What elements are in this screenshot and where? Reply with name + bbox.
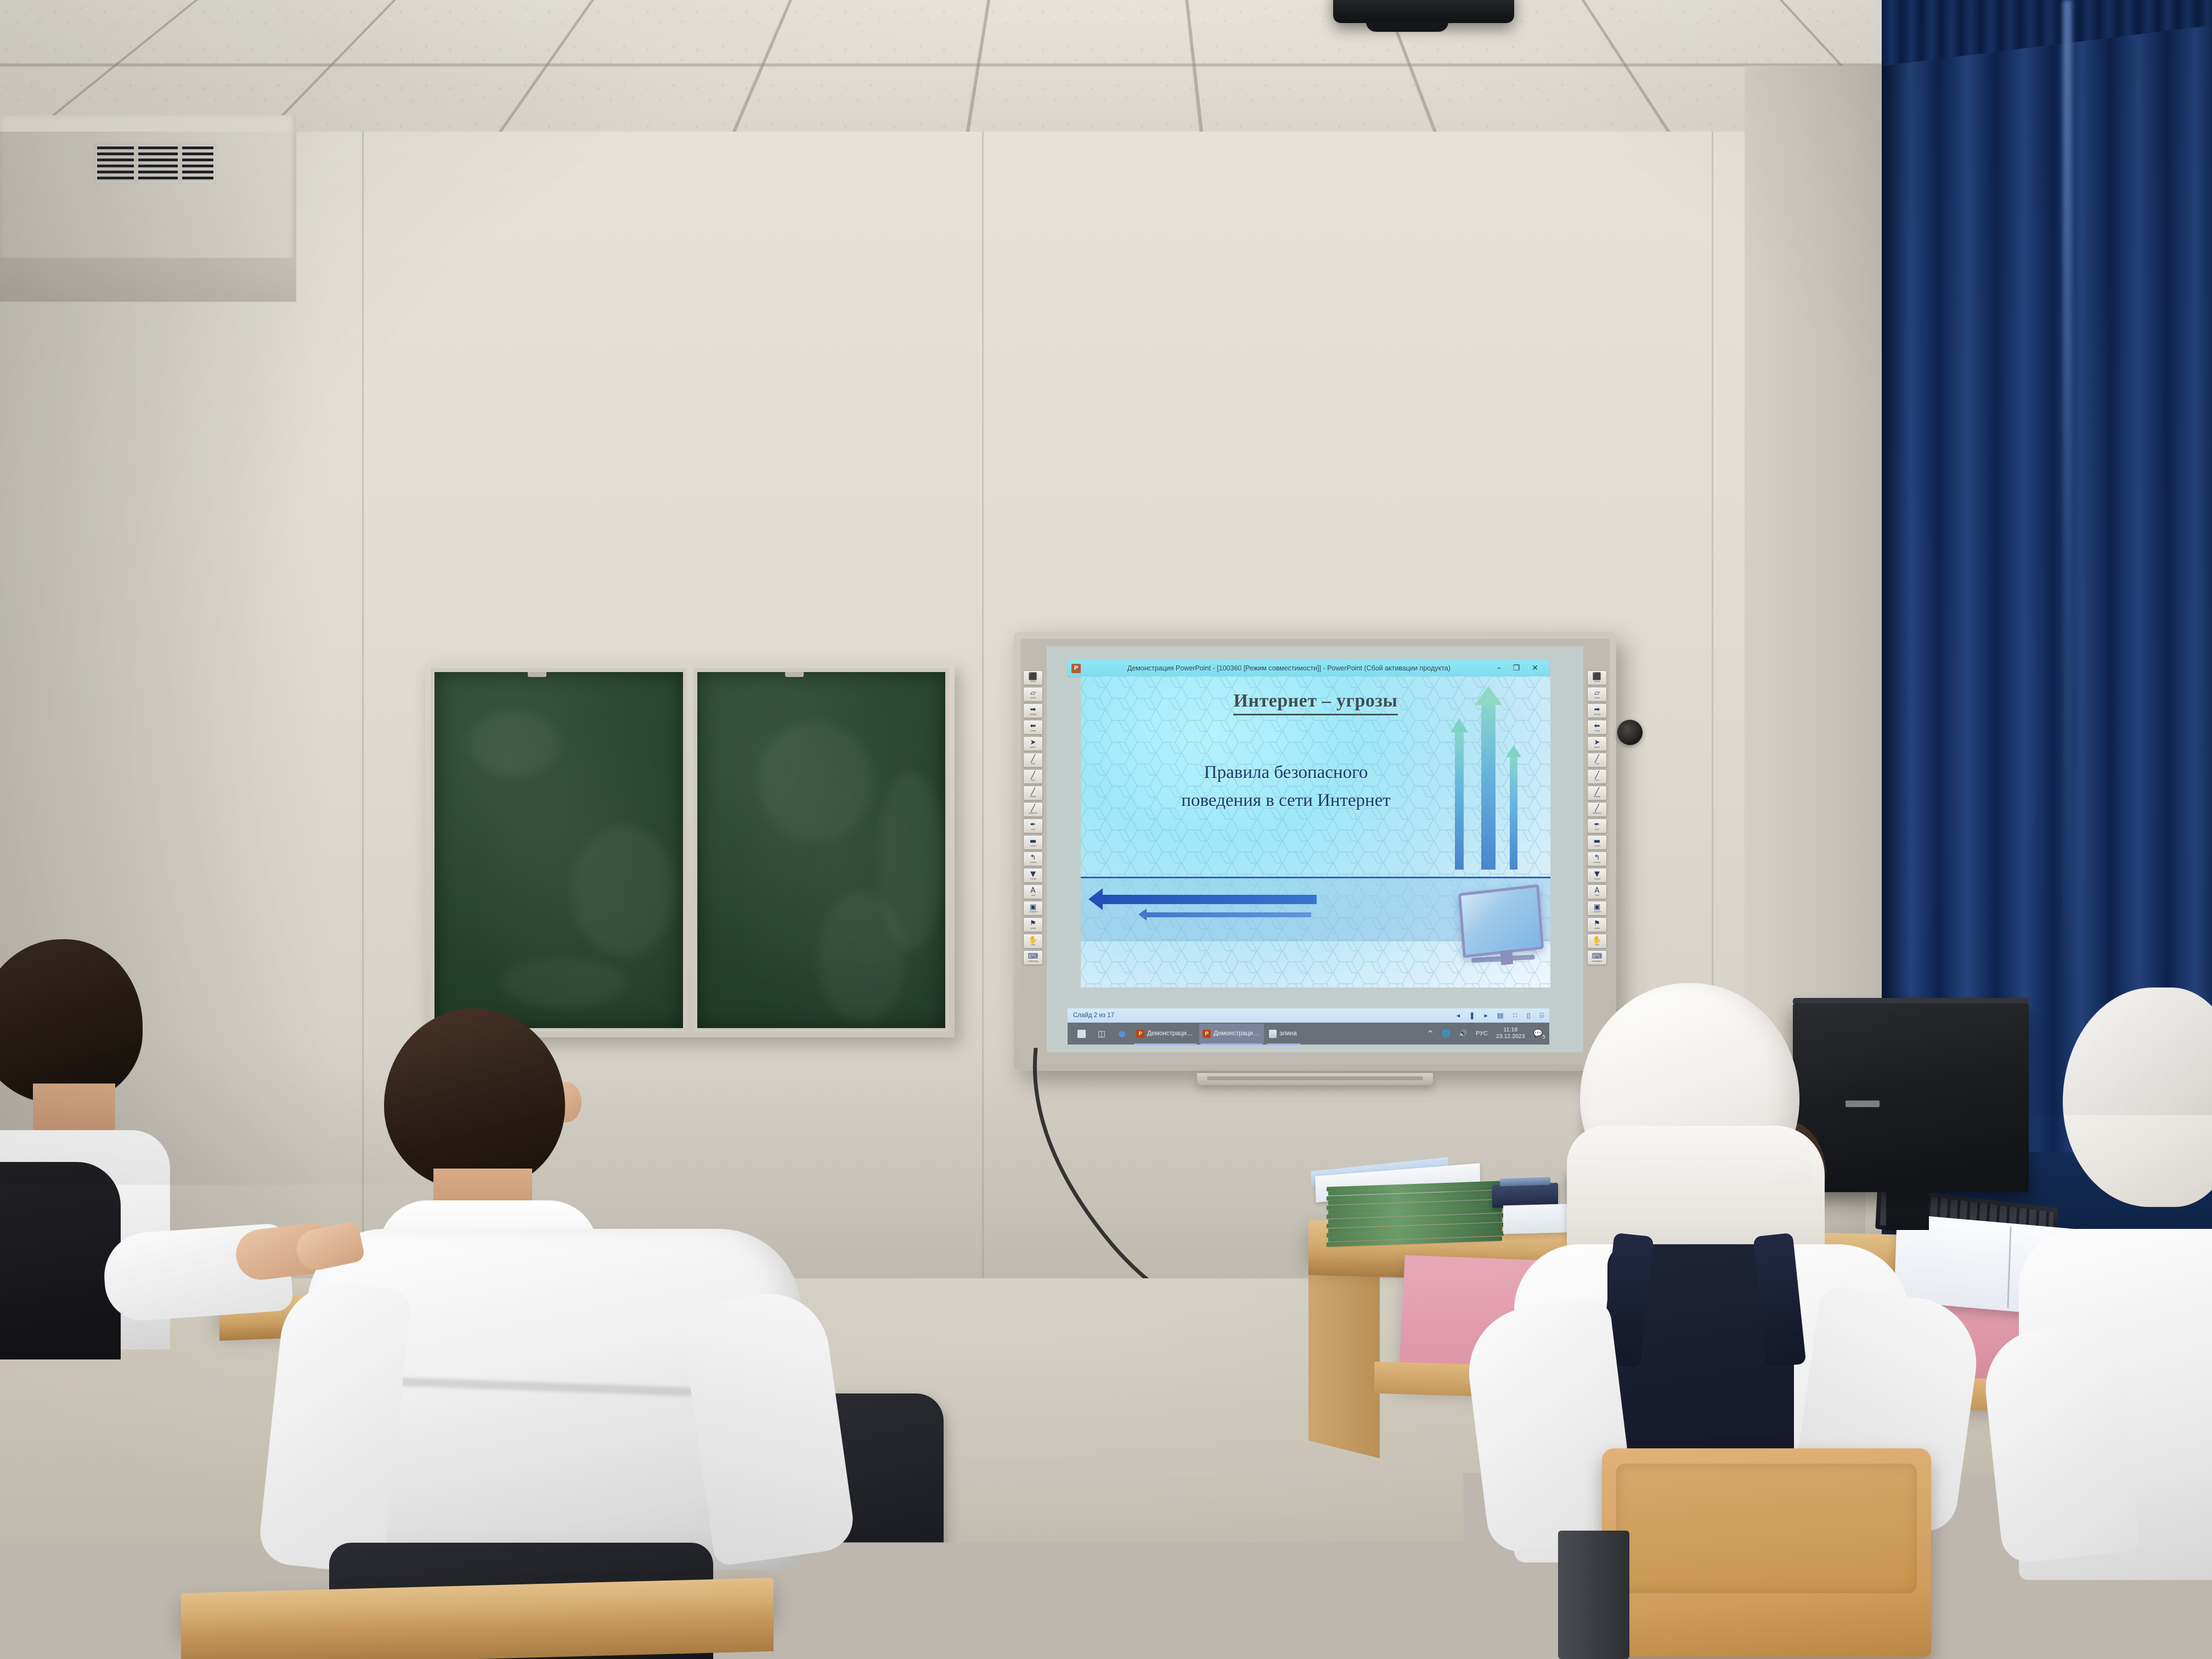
hand-icon[interactable]: ✋Рука xyxy=(1587,934,1607,949)
tool-caption: Отмена xyxy=(1594,862,1600,864)
text-tool-icon[interactable]: AТекст xyxy=(1587,884,1607,899)
next-slide-icon[interactable]: ▸ xyxy=(1485,1012,1488,1019)
arrow-right-blue-icon-glyph: ➤ xyxy=(1594,739,1600,746)
reading-view-icon[interactable]: ▯ xyxy=(1527,1012,1531,1019)
tool-caption: Далее xyxy=(1030,747,1036,749)
clock[interactable]: 11:18 23.12.2023 xyxy=(1496,1027,1525,1040)
shape-icon[interactable]: ▼Фигура xyxy=(1023,868,1043,883)
previous-slide-icon[interactable]: ◂ xyxy=(1457,1012,1460,1019)
slide-body-line-2: поведения в сети Интернет xyxy=(1115,787,1457,815)
monitor-label xyxy=(1846,1101,1880,1107)
tool-caption: Выбор xyxy=(1594,681,1600,683)
tool-caption: Перо xyxy=(1031,763,1035,765)
arrow-right-icon[interactable]: ➡Вперёд xyxy=(1587,703,1607,718)
taskbar-app-indicator xyxy=(1134,1043,1197,1045)
tool-caption: Сохранить xyxy=(1593,911,1602,913)
slide-body: Правила безопасного поведения в сети Инт… xyxy=(1115,759,1457,815)
tool-caption: Перо xyxy=(1595,763,1599,765)
pen-medium-icon[interactable]: ╱Перо 2 xyxy=(1023,769,1043,784)
stamp-icon-glyph: ⚑ xyxy=(1030,920,1036,927)
brush-icon[interactable]: ✒Кисть xyxy=(1023,819,1043,833)
slide-canvas[interactable]: Интернет – угрозы Правила безопасного по… xyxy=(1081,676,1550,988)
windows-taskbar[interactable]: ◫ ● PДемонстраци…PДемонстраци…элина ^ 🌐 … xyxy=(1068,1023,1549,1045)
taskbar-app-explorer[interactable]: элина xyxy=(1266,1024,1302,1043)
green-chalkboard xyxy=(425,663,955,1037)
highlighter-icon[interactable]: ╱Выделить xyxy=(1587,802,1607,817)
taskbar-app-label: элина xyxy=(1279,1030,1297,1037)
whiteboard-left-toolbar[interactable]: ⬛Выбор▱Ластик➡Вперёд⬅Назад➤Далее╱Перо╱Пе… xyxy=(1020,639,1046,1064)
close-button[interactable]: ✕ xyxy=(1532,664,1538,672)
slide-counter: Слайд 2 из 17 xyxy=(1073,1012,1114,1019)
arrow-left-icon[interactable]: ⬅Назад xyxy=(1587,720,1607,735)
tool-caption: Рука xyxy=(1031,944,1035,946)
minimize-button[interactable]: – xyxy=(1497,664,1501,672)
highlighter-icon[interactable]: ╱Выделить xyxy=(1023,802,1043,817)
pen-medium-icon-glyph: ╱ xyxy=(1031,772,1035,779)
fur-garment xyxy=(0,1514,214,1659)
tool-caption: Клавиатура xyxy=(1592,961,1602,963)
text-tool-icon[interactable]: AТекст xyxy=(1023,884,1043,899)
eraser-block-icon[interactable]: ▬Стереть xyxy=(1587,835,1607,850)
arrow-left-icon-glyph: ⬅ xyxy=(1594,723,1600,730)
keyboard-icon[interactable]: ⌨Клавиатура xyxy=(1587,950,1607,965)
tool-caption: Перо 2 xyxy=(1594,780,1600,782)
text-tool-icon-glyph: A xyxy=(1595,887,1600,894)
volume-icon[interactable]: 🔊 xyxy=(1459,1030,1468,1037)
undo-icon-glyph: ↰ xyxy=(1030,854,1036,861)
pen-thin-icon[interactable]: ╱Перо xyxy=(1587,753,1607,768)
undo-icon-glyph: ↰ xyxy=(1594,854,1600,861)
clock-date: 23.12.2023 xyxy=(1496,1034,1525,1040)
left-arrow-large xyxy=(1103,895,1317,904)
select-icon-glyph: ⬛ xyxy=(1029,673,1037,680)
shape-icon[interactable]: ▼Фигура xyxy=(1587,868,1607,883)
arrow-left-icon-glyph: ⬅ xyxy=(1030,723,1036,730)
taskbar-app-indicator xyxy=(1267,1043,1301,1045)
taskbar-app-label: Демонстраци… xyxy=(1214,1030,1259,1037)
eraser-block-icon-glyph: ▬ xyxy=(1030,838,1036,845)
pen-thin-icon-glyph: ╱ xyxy=(1595,755,1599,763)
powerpoint-icon: P xyxy=(1136,1030,1144,1038)
chalk-clip xyxy=(528,670,546,677)
pen-thick-icon-glyph: ╱ xyxy=(1595,788,1599,795)
stamp-icon[interactable]: ⚑Штамп xyxy=(1587,917,1607,932)
pen-thick-icon[interactable]: ╱Маркер xyxy=(1023,786,1043,800)
wall-socket xyxy=(1617,720,1643,745)
desk-side-panel xyxy=(1308,1249,1380,1458)
eraser-icon[interactable]: ▱Ластик xyxy=(1587,687,1607,702)
notifications-icon[interactable]: 💬5 xyxy=(1533,1029,1543,1038)
select-icon[interactable]: ⬛Выбор xyxy=(1023,670,1043,685)
system-tray[interactable]: ^ 🌐 🔊 РУС 11:18 23.12.2023 💬5 xyxy=(1427,1027,1545,1040)
arrow-right-blue-icon[interactable]: ➤Далее xyxy=(1023,736,1043,751)
stamp-icon-glyph: ⚑ xyxy=(1594,920,1600,927)
task-view-icon[interactable]: ◫ xyxy=(1092,1024,1111,1043)
hand-icon[interactable]: ✋Рука xyxy=(1023,934,1043,949)
brush-icon-glyph: ✒ xyxy=(1594,821,1600,828)
tool-caption: Вперёд xyxy=(1594,714,1600,716)
tool-caption: Перо 2 xyxy=(1030,780,1036,782)
tool-caption: Выделить xyxy=(1593,812,1601,815)
projection-screen[interactable]: P Демонстрация PowerPoint - [100360 [Реж… xyxy=(1047,646,1583,1052)
undo-icon[interactable]: ↰Отмена xyxy=(1023,851,1043,866)
pause-icon[interactable]: ❚ xyxy=(1469,1012,1475,1019)
highlighter-icon-glyph: ╱ xyxy=(1595,805,1599,812)
monitor-rear xyxy=(1793,1003,2029,1192)
tool-caption: Маркер xyxy=(1030,796,1036,798)
whiteboard-right-toolbar[interactable]: ⬛Выбор▱Ластик➡Вперёд⬅Назад➤Далее╱Перо╱Пе… xyxy=(1584,639,1610,1064)
tool-caption: Текст xyxy=(1031,895,1036,897)
tool-caption: Ластик xyxy=(1030,697,1036,699)
shape-icon-glyph: ▼ xyxy=(1030,871,1036,878)
network-icon[interactable]: 🌐 xyxy=(1442,1030,1451,1037)
tool-caption: Сохранить xyxy=(1029,911,1038,913)
taskbar-app-indicator xyxy=(1200,1043,1263,1045)
select-icon[interactable]: ⬛Выбор xyxy=(1587,670,1607,685)
tool-caption: Стереть xyxy=(1594,845,1601,848)
tool-caption: Вперёд xyxy=(1030,714,1036,716)
hand-icon-glyph: ✋ xyxy=(1029,936,1037,944)
pen-thick-icon[interactable]: ╱Маркер xyxy=(1587,786,1607,800)
brush-icon-glyph: ✒ xyxy=(1030,821,1036,828)
save-icon-glyph: ▣ xyxy=(1030,904,1036,911)
whiteboard-pen-tray[interactable] xyxy=(1197,1073,1433,1085)
eraser-icon-glyph: ▱ xyxy=(1594,690,1600,697)
projected-image: P Демонстрация PowerPoint - [100360 [Реж… xyxy=(1047,646,1583,1052)
tool-caption: Кисть xyxy=(1031,829,1036,831)
highlighter-icon-glyph: ╱ xyxy=(1031,805,1035,812)
tool-caption: Штамп xyxy=(1030,928,1036,930)
eraser-block-icon[interactable]: ▬Стереть xyxy=(1023,835,1043,850)
eraser-block-icon-glyph: ▬ xyxy=(1594,838,1600,845)
notes-icon[interactable]: ▤ xyxy=(1497,1012,1504,1019)
tool-caption: Назад xyxy=(1594,730,1600,732)
chalk-clip xyxy=(785,670,804,677)
window-title: Демонстрация PowerPoint - [100360 [Режим… xyxy=(1081,664,1497,672)
save-icon[interactable]: ▣Сохранить xyxy=(1587,901,1607,916)
language-indicator[interactable]: РУС xyxy=(1476,1031,1488,1037)
tool-caption: Рука xyxy=(1595,944,1599,946)
arrow-right-icon-glyph: ➡ xyxy=(1030,706,1036,713)
tool-caption: Ластик xyxy=(1594,697,1600,699)
save-icon-glyph: ▣ xyxy=(1594,904,1600,911)
up-arrows-graphic xyxy=(1451,689,1532,870)
computer-monitor-graphic xyxy=(1458,884,1544,958)
tool-caption: Клавиатура xyxy=(1028,961,1038,963)
notebook-stack xyxy=(1327,1181,1502,1251)
arrow-right-blue-icon-glyph: ➤ xyxy=(1030,739,1036,746)
taskbar-app-label: Демонстраци… xyxy=(1147,1030,1193,1037)
wall-seam xyxy=(362,132,364,1284)
tool-caption: Назад xyxy=(1030,730,1036,732)
slideshow-status-bar[interactable]: Слайд 2 из 17 ◂❚▸▤∷▯⌸ xyxy=(1068,1008,1549,1023)
notifications-count: 5 xyxy=(1542,1035,1545,1040)
chair-frame xyxy=(1558,1531,1629,1659)
arrow-left-icon[interactable]: ⬅Назад xyxy=(1023,720,1043,735)
student-arm xyxy=(1980,1321,2141,1565)
keyboard-icon-glyph: ⌨ xyxy=(1592,953,1602,960)
save-icon[interactable]: ▣Сохранить xyxy=(1023,901,1043,916)
left-arrow-small xyxy=(1147,912,1311,917)
air-vent-icon xyxy=(92,142,218,187)
pen-thick-icon-glyph: ╱ xyxy=(1031,788,1035,795)
keyboard-icon-glyph: ⌨ xyxy=(1028,953,1039,960)
folder-icon xyxy=(1269,1030,1277,1038)
browser-icon[interactable]: ● xyxy=(1113,1024,1131,1043)
powerpoint-icon: P xyxy=(1071,664,1081,673)
arrow-right-blue-icon[interactable]: ➤Далее xyxy=(1587,736,1607,751)
arrow-right-icon[interactable]: ➡Вперёд xyxy=(1023,703,1043,718)
presenter-view-icon[interactable]: ⌸ xyxy=(1539,1012,1544,1019)
undo-icon[interactable]: ↰Отмена xyxy=(1587,851,1607,866)
pen-medium-icon[interactable]: ╱Перо 2 xyxy=(1587,769,1607,784)
text-tool-icon-glyph: A xyxy=(1031,887,1036,894)
classroom-scene: ⬛Выбор▱Ластик➡Вперёд⬅Назад➤Далее╱Перо╱Пе… xyxy=(0,0,2212,1659)
student-vest xyxy=(0,1162,121,1359)
tool-caption: Текст xyxy=(1595,895,1600,897)
tool-caption: Фигура xyxy=(1030,878,1036,881)
tool-caption: Далее xyxy=(1594,747,1600,749)
powerpoint-icon: P xyxy=(1203,1030,1211,1038)
wooden-chair[interactable] xyxy=(1602,1448,1931,1657)
ceiling-projector xyxy=(1333,0,1514,23)
hand-icon-glyph: ✋ xyxy=(1593,936,1601,944)
monitor-stand xyxy=(1886,1189,1929,1230)
curtain-light-gleam xyxy=(2063,0,2072,1015)
tool-caption: Фигура xyxy=(1594,878,1600,881)
pen-medium-icon-glyph: ╱ xyxy=(1595,772,1599,779)
eraser-icon-glyph: ▱ xyxy=(1030,690,1036,697)
tool-caption: Стереть xyxy=(1030,845,1037,848)
windows-start-icon[interactable] xyxy=(1072,1024,1091,1043)
select-icon-glyph: ⬛ xyxy=(1593,673,1601,680)
taskbar-app-powerpoint[interactable]: PДемонстраци… xyxy=(1199,1024,1264,1043)
shape-icon-glyph: ▼ xyxy=(1594,871,1600,878)
slide-title-text: Интернет – угрозы xyxy=(1233,691,1397,715)
arrow-right-icon-glyph: ➡ xyxy=(1594,706,1600,713)
restore-button[interactable]: ❐ xyxy=(1513,664,1520,672)
chevron-up-icon[interactable]: ^ xyxy=(1427,1030,1434,1037)
all-slides-grid-icon[interactable]: ∷ xyxy=(1513,1012,1517,1019)
interactive-whiteboard[interactable]: ⬛Выбор▱Ластик➡Вперёд⬅Назад➤Далее╱Перо╱Пе… xyxy=(1014,632,1616,1071)
tool-caption: Кисть xyxy=(1595,829,1600,831)
powerpoint-title-bar[interactable]: P Демонстрация PowerPoint - [100360 [Реж… xyxy=(1068,660,1549,676)
tool-caption: Штамп xyxy=(1594,928,1600,930)
tool-caption: Отмена xyxy=(1030,862,1036,864)
tool-caption: Выделить xyxy=(1029,812,1037,815)
chalkboard-panel-right xyxy=(693,668,950,1032)
tool-caption: Выбор xyxy=(1030,681,1036,683)
pen-thin-icon[interactable]: ╱Перо xyxy=(1023,753,1043,768)
keyboard-icon[interactable]: ⌨Клавиатура xyxy=(1023,950,1043,965)
tool-caption: Маркер xyxy=(1594,796,1600,798)
eraser-icon[interactable]: ▱Ластик xyxy=(1023,687,1043,702)
chalkboard-panel-left xyxy=(431,668,687,1032)
pen-thin-icon-glyph: ╱ xyxy=(1031,755,1035,763)
wall-seam xyxy=(982,132,984,1284)
soffit-face xyxy=(0,258,296,302)
stamp-icon[interactable]: ⚑Штамп xyxy=(1023,917,1043,932)
brush-icon[interactable]: ✒Кисть xyxy=(1587,819,1607,833)
slide-body-line-1: Правила безопасного xyxy=(1115,759,1457,787)
taskbar-app-powerpoint[interactable]: PДемонстраци… xyxy=(1133,1024,1198,1043)
